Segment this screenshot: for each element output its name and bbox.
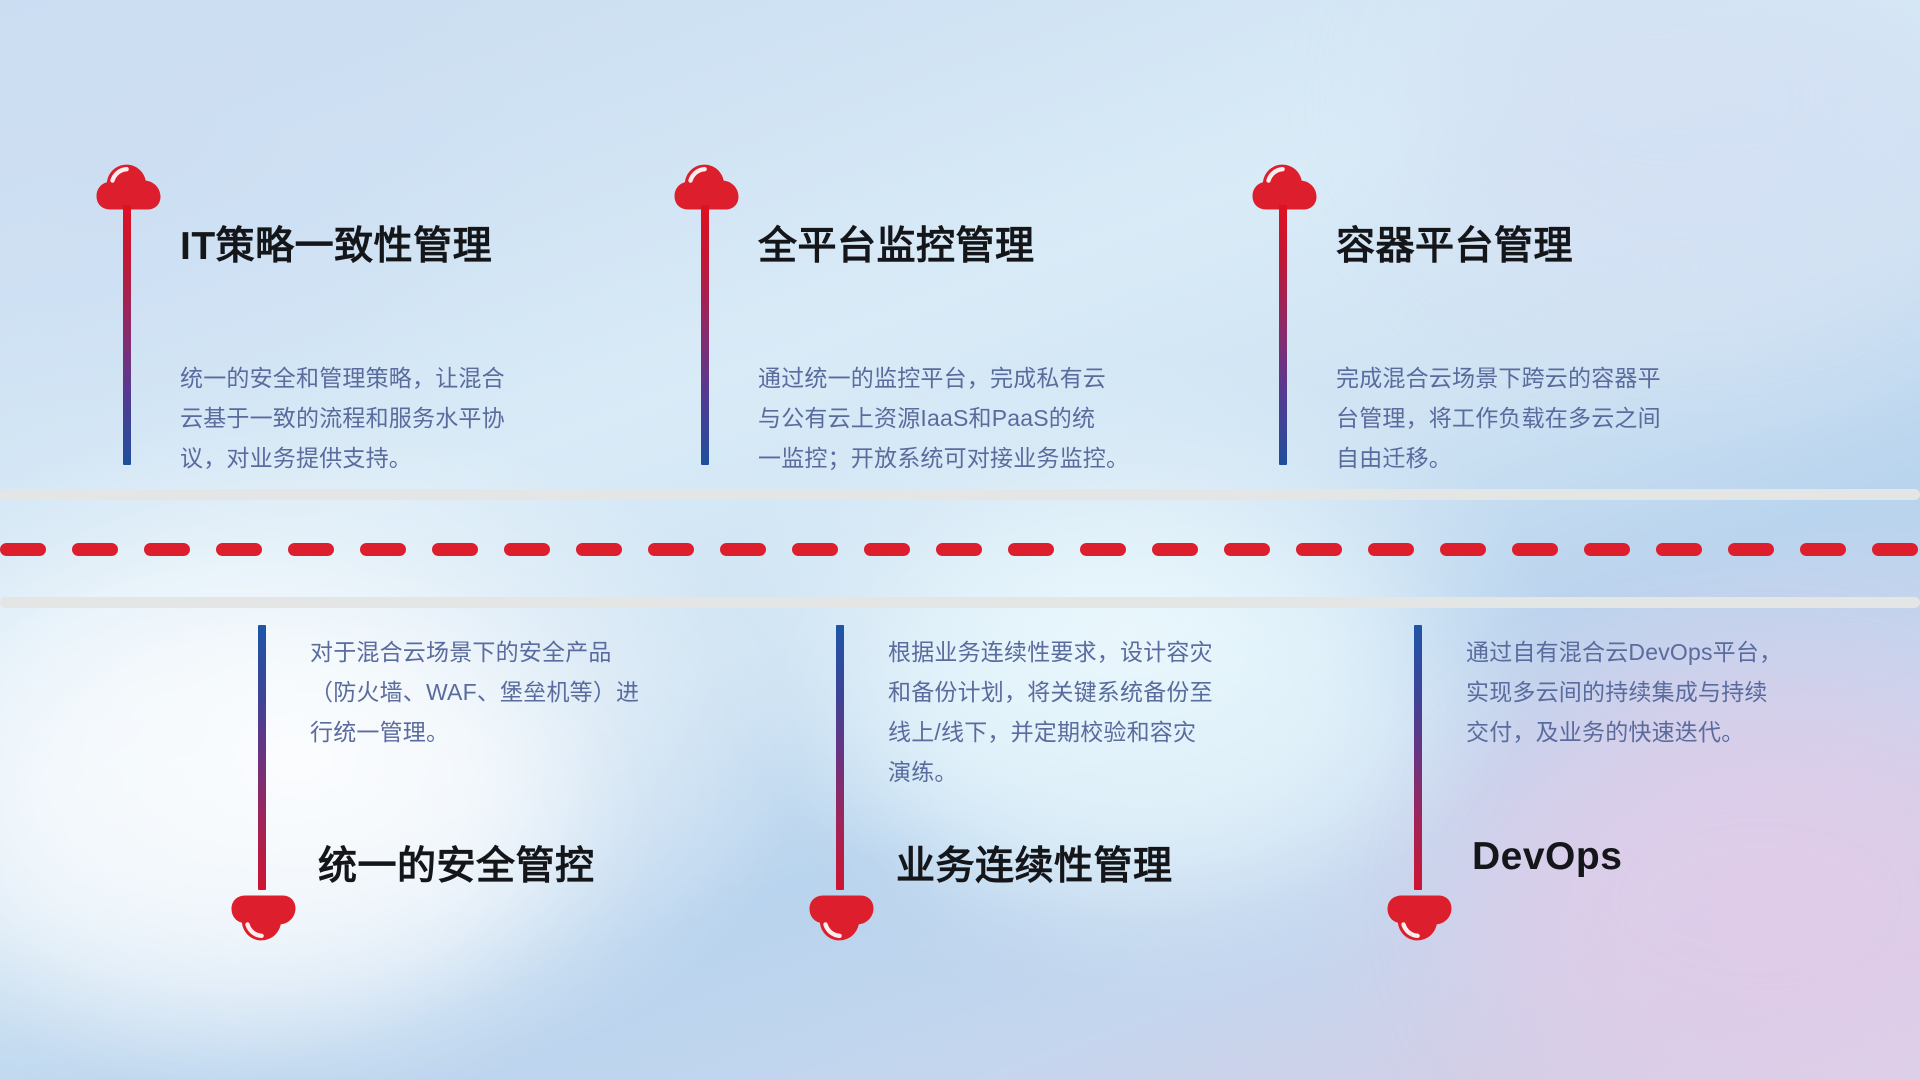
connector-stem [1279, 205, 1287, 465]
connector-stem [836, 625, 844, 890]
cloud-icon [96, 160, 162, 210]
dash-segment [1080, 543, 1126, 556]
card-body: 对于混合云场景下的安全产品 （防火墙、WAF、堡垒机等）进 行统一管理。 [310, 632, 750, 752]
dash-segment [360, 543, 406, 556]
cloud-icon [231, 895, 297, 945]
connector-stem [258, 625, 266, 890]
card-title: IT策略一致性管理 [180, 215, 492, 271]
card-body: 根据业务连续性要求，设计容灾 和备份计划，将关键系统备份至 线上/线下，并定期校… [888, 632, 1338, 792]
card-title: 业务连续性管理 [896, 835, 1173, 891]
dash-segment [1584, 543, 1630, 556]
divider-dashed-rule [0, 543, 1920, 556]
card-body: 通过自有混合云DevOps平台， 实现多云间的持续集成与持续 交付，及业务的快速… [1466, 632, 1896, 752]
dash-segment [576, 543, 622, 556]
dash-segment [144, 543, 190, 556]
card-title: 统一的安全管控 [318, 835, 595, 891]
dash-segment [1512, 543, 1558, 556]
card-body: 统一的安全和管理策略，让混合 云基于一致的流程和服务水平协 议，对业务提供支持。 [180, 358, 610, 478]
dash-segment [1152, 543, 1198, 556]
dash-segment [1656, 543, 1702, 556]
cloud-icon [1252, 160, 1318, 210]
divider-top-rule [0, 489, 1920, 500]
dash-segment [792, 543, 838, 556]
cloud-icon [674, 160, 740, 210]
dash-segment [288, 543, 334, 556]
dash-segment [864, 543, 910, 556]
dash-segment [1368, 543, 1414, 556]
dash-segment [1008, 543, 1054, 556]
connector-stem [123, 205, 131, 465]
card-title: 容器平台管理 [1336, 215, 1573, 271]
background-glow-right [1480, 700, 1920, 1080]
card-body: 通过统一的监控平台，完成私有云 与公有云上资源IaaS和PaaS的统 一监控；开… [758, 358, 1228, 478]
card-title: DevOps [1472, 835, 1622, 879]
dash-segment [72, 543, 118, 556]
dash-segment [936, 543, 982, 556]
card-body: 完成混合云场景下跨云的容器平 台管理，将工作负载在多云之间 自由迁移。 [1336, 358, 1786, 478]
connector-stem [1414, 625, 1422, 890]
dash-segment [432, 543, 478, 556]
connector-stem [701, 205, 709, 465]
dash-segment [1800, 543, 1846, 556]
dash-segment [1872, 543, 1918, 556]
divider-bottom-rule [0, 597, 1920, 608]
dash-segment [720, 543, 766, 556]
dash-segment [1728, 543, 1774, 556]
dash-segment [648, 543, 694, 556]
cloud-icon [1387, 895, 1453, 945]
dash-segment [216, 543, 262, 556]
card-title: 全平台监控管理 [758, 215, 1035, 271]
dash-segment [0, 543, 46, 556]
dash-segment [1296, 543, 1342, 556]
dash-segment [1440, 543, 1486, 556]
cloud-icon [809, 895, 875, 945]
dash-segment [1224, 543, 1270, 556]
infographic-canvas: IT策略一致性管理 统一的安全和管理策略，让混合 云基于一致的流程和服务水平协 … [0, 0, 1920, 1080]
dash-segment [504, 543, 550, 556]
